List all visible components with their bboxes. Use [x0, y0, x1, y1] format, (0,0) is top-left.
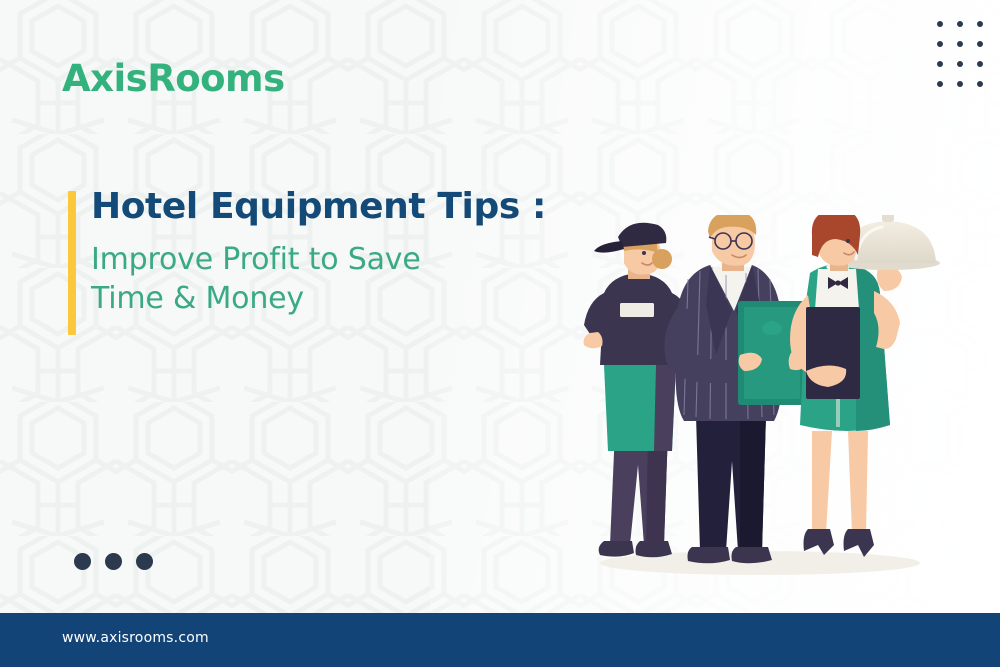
- manager-shoe-right: [732, 547, 773, 563]
- grid-dot: [977, 81, 983, 87]
- grid-dot: [957, 21, 963, 27]
- waitress-eye: [846, 239, 850, 243]
- staff-hand-left: [584, 332, 603, 348]
- grid-dot: [937, 61, 943, 67]
- accent-bar: [68, 191, 76, 335]
- grid-dot: [977, 61, 983, 67]
- waitress-arm-right: [874, 291, 900, 349]
- cloche-knob: [882, 215, 894, 222]
- figure-hotel-manager: [665, 215, 807, 563]
- manager-trousers-shade: [740, 415, 766, 551]
- waitress-dress-shade: [856, 267, 890, 431]
- grid-dot: [937, 41, 943, 47]
- bottom-dot: [105, 553, 122, 570]
- staff-hair-bun: [652, 249, 672, 269]
- hotel-staff-illustration: [560, 215, 980, 613]
- footer-website-url[interactable]: www.axisrooms.com: [62, 630, 209, 646]
- waitress-leg-right: [848, 431, 868, 533]
- staff-shoe-left: [599, 541, 634, 557]
- brand-logo: AxisRooms: [62, 57, 285, 100]
- bottom-dot: [136, 553, 153, 570]
- bottom-dot: [74, 553, 91, 570]
- staff-apron-fold: [654, 365, 676, 451]
- grid-dot: [957, 81, 963, 87]
- subtitle-line-1: Improve Profit to Save: [91, 241, 611, 279]
- grid-dot: [937, 21, 943, 27]
- staff-cap: [618, 223, 666, 247]
- waitress-heel-right: [844, 529, 875, 557]
- dot-grid-decoration: [930, 14, 990, 94]
- page-title: Hotel Equipment Tips :: [91, 186, 611, 227]
- hotel-equipment-tips-banner: AxisRooms Hotel Equipment Tips : Improve…: [0, 0, 1000, 667]
- manager-shoe-left: [688, 547, 731, 563]
- staff-name-tag: [620, 303, 654, 317]
- waitress-bow-knot: [835, 280, 840, 285]
- subtitle-line-2: Time & Money: [91, 280, 611, 318]
- waitress-leg-left: [812, 431, 832, 533]
- staff-cap-brim: [594, 241, 624, 253]
- staff-shoe-right: [636, 541, 673, 557]
- staff-eye: [642, 251, 646, 255]
- grid-dot: [977, 41, 983, 47]
- figure-waitress: [790, 215, 940, 557]
- grid-dot: [957, 41, 963, 47]
- waitress-heel-left: [804, 529, 835, 555]
- bottom-dots-decoration: [74, 553, 153, 570]
- page-subtitle: Improve Profit to Save Time & Money: [91, 241, 611, 318]
- headline-block: Hotel Equipment Tips : Improve Profit to…: [91, 186, 611, 318]
- grid-dot: [937, 81, 943, 87]
- footer-bar: www.axisrooms.com: [0, 613, 1000, 667]
- grid-dot: [957, 61, 963, 67]
- grid-dot: [977, 21, 983, 27]
